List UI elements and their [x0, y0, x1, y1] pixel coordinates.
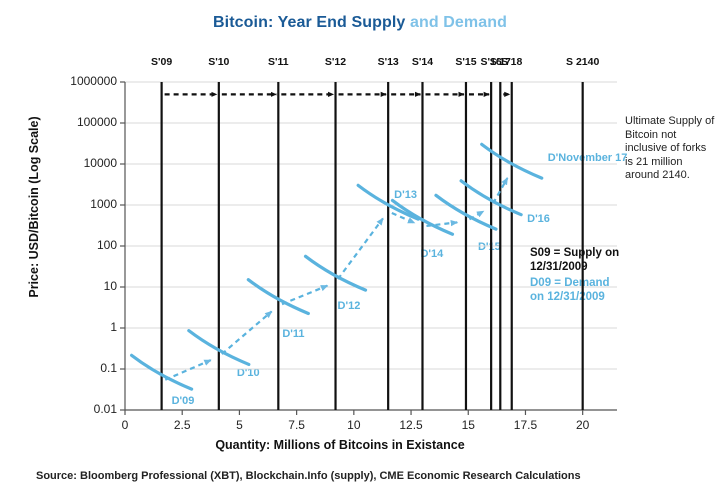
equilibrium-arrow [282, 286, 327, 305]
axes [120, 82, 617, 415]
equilibrium-arrow [165, 360, 210, 380]
demand-curves [132, 144, 542, 389]
equilibrium-arrow [222, 311, 272, 354]
gridlines [125, 82, 617, 410]
plot-canvas [0, 0, 720, 500]
equilibrium-arrow [338, 218, 383, 279]
chart-root: Bitcoin: Year End Supply and Demand Pric… [0, 0, 720, 500]
equilibrium-arrow [469, 211, 483, 219]
